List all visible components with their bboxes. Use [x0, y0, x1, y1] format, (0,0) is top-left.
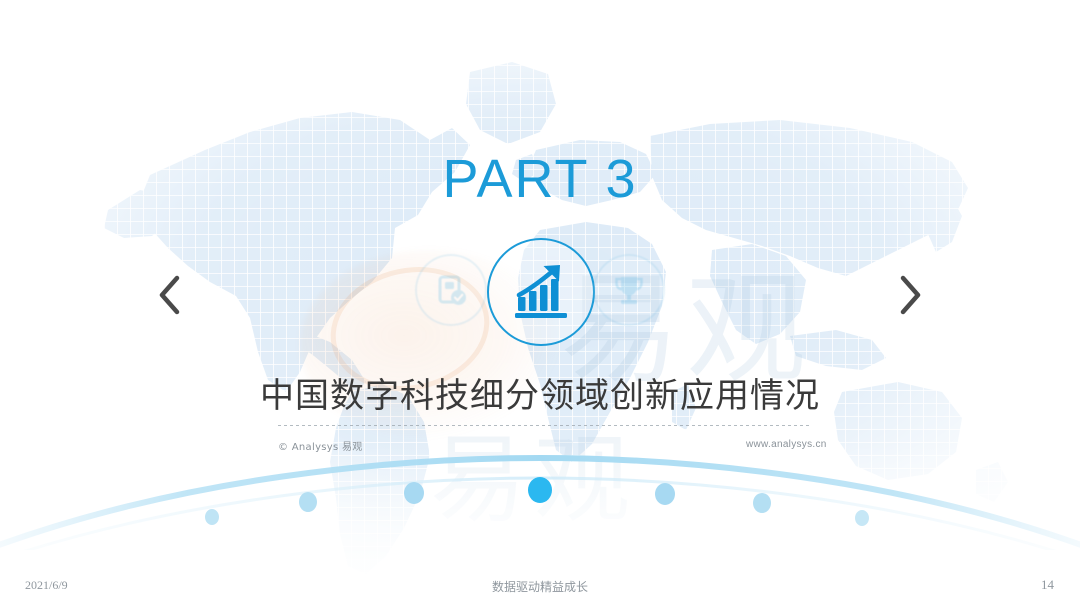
footer-page-number: 14	[1041, 577, 1054, 593]
arc-dot	[404, 482, 424, 504]
arc-dot	[205, 509, 219, 525]
bar-chart-growth-icon	[487, 238, 595, 346]
arc-dot	[299, 492, 317, 512]
slide-subtitle: 中国数字科技细分领域创新应用情况	[0, 368, 1080, 417]
copyright-credit: © Analysys 易观	[278, 438, 363, 453]
arc-dot	[655, 483, 675, 505]
trophy-icon-ring	[593, 254, 665, 326]
arc-dot	[753, 493, 771, 513]
chevron-right-icon[interactable]	[883, 268, 937, 322]
part-title: PART 3	[0, 148, 1080, 210]
footer-tagline: 数据驱动精益成长	[0, 578, 1080, 595]
arc-dot-group	[205, 477, 869, 526]
arc-dot-active	[528, 477, 552, 503]
document-check-icon-ring	[415, 254, 487, 326]
progress-arc	[0, 455, 1080, 550]
chevron-left-glyph	[155, 273, 185, 317]
chevron-left-icon[interactable]	[143, 268, 197, 322]
website-url[interactable]: www.analysys.cn	[746, 439, 827, 450]
progress-arc-svg	[0, 455, 1080, 550]
bar-chart-growth-glyph	[510, 261, 572, 323]
document-check-icon	[415, 254, 487, 326]
watermark-text-secondary: 易观	[430, 402, 638, 541]
arc-dot	[855, 510, 869, 526]
slide-canvas: 易观 易观 PART 3	[0, 0, 1080, 608]
dotted-divider	[278, 425, 810, 426]
chevron-right-glyph	[895, 273, 925, 317]
trophy-icon	[593, 254, 665, 326]
